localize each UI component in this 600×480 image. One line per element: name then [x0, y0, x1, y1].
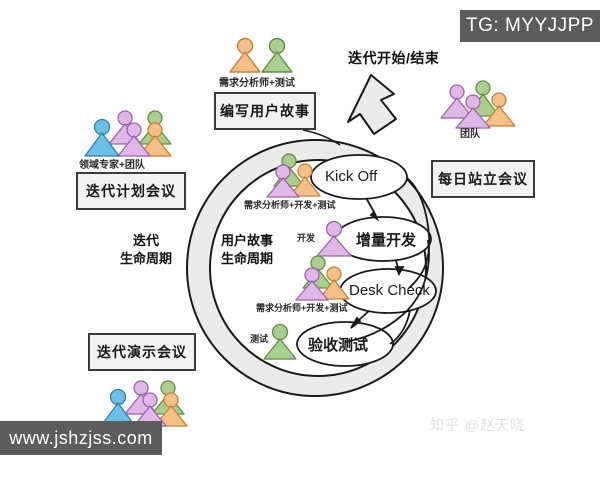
iteration-start-end-label: 迭代开始/结束	[348, 48, 439, 68]
node-label-acceptance-test[interactable]: 验收测试	[308, 334, 368, 355]
people-group-domain-team-lower	[101, 381, 187, 426]
roles-caption-write-user-story: 需求分析师+测试	[219, 74, 295, 89]
outer-ring-label-line2: 生命周期	[108, 250, 184, 268]
people-group-team-right	[441, 81, 515, 128]
person-green	[262, 39, 292, 73]
node-roles-incremental-development: 开发	[297, 231, 315, 244]
box-write-user-story[interactable]: 编写用户故事	[214, 92, 316, 130]
diagram-canvas: 迭代开始/结束 需求分析师+测试 领域专家+团队 团队 领域专家+团队 编写用户…	[0, 0, 600, 480]
node-label-incremental-development[interactable]: 增量开发	[356, 229, 416, 250]
watermark-tg: TG: MYYJJPP	[460, 10, 600, 42]
inner-ring-label: 用户故事 生命周期	[208, 232, 286, 267]
node-roles-desk-check: 需求分析师+开发+测试	[256, 301, 348, 314]
box-iteration-demo-meeting[interactable]: 迭代演示会议	[88, 333, 196, 371]
inner-ring-label-line2: 生命周期	[208, 250, 286, 268]
outer-ring-label-line1: 迭代	[108, 232, 184, 250]
person-orange	[230, 39, 260, 73]
inner-ring-label-line1: 用户故事	[208, 232, 286, 250]
outer-ring-label: 迭代 生命周期	[108, 232, 184, 267]
iteration-start-arrow	[348, 75, 396, 134]
roles-caption-daily-standup: 团队	[460, 125, 480, 140]
node-label-kick-off[interactable]: Kick Off	[325, 168, 377, 185]
node-label-desk-check[interactable]: Desk Check	[349, 282, 430, 299]
watermark-url: www.jshzjss.com	[0, 421, 162, 455]
people-group-domain-team-upper	[85, 111, 171, 156]
roles-caption-iteration-planning: 领域专家+团队	[79, 156, 145, 171]
people-group-analyst-tester-top	[230, 39, 292, 73]
node-roles-kick-off: 需求分析师+开发+测试	[244, 198, 336, 211]
watermark-zhihu: 知乎 @赵天晓	[430, 415, 525, 435]
node-roles-acceptance-test: 测试	[250, 332, 268, 345]
box-iteration-planning-meeting[interactable]: 迭代计划会议	[76, 172, 186, 210]
box-daily-standup-meeting[interactable]: 每日站立会议	[431, 160, 535, 198]
